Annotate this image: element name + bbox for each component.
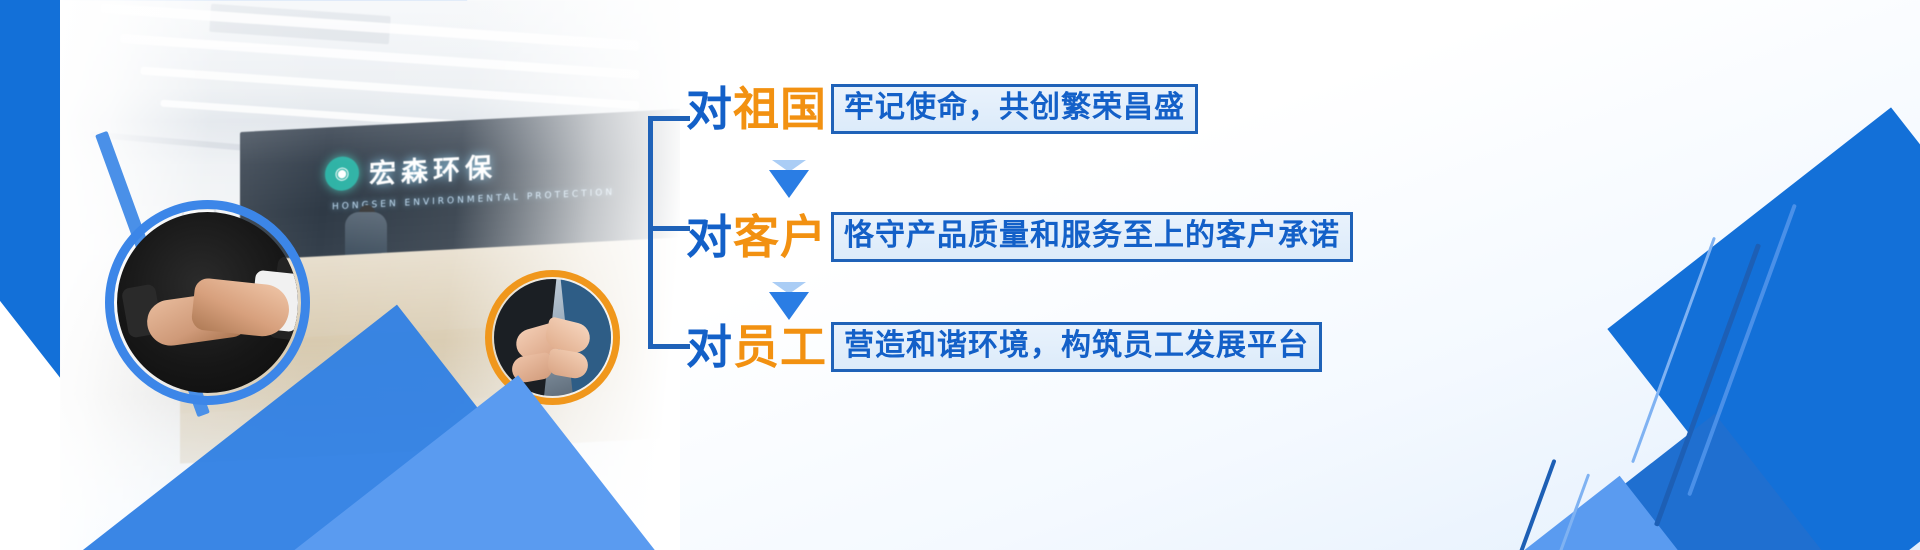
value-target: 客户: [733, 214, 827, 260]
down-arrow-icon: [766, 282, 812, 320]
value-prefix: 对: [686, 324, 733, 370]
value-statement-nation: 牢记使命，共创繁荣昌盛: [831, 84, 1198, 134]
value-row-nation: 对 祖国 牢记使命，共创繁荣昌盛: [686, 84, 1198, 134]
bracket-connector: [648, 86, 688, 374]
bracket-branch: [648, 226, 690, 231]
down-arrow-bottom: [769, 170, 809, 198]
bracket-vertical: [648, 116, 653, 348]
value-heading: 对 客户: [686, 214, 827, 260]
decor-hairline: [1687, 204, 1797, 497]
promo-banner: ◉ 宏森环保 HONGSEN ENVIRONMENTAL PROTECTION: [0, 0, 1920, 550]
value-prefix: 对: [686, 214, 733, 260]
value-heading: 对 祖国: [686, 86, 827, 132]
bracket-branch: [648, 116, 690, 121]
applause-photo-ring: [485, 270, 620, 405]
value-list: 对 祖国 牢记使命，共创繁荣昌盛 对 客户 恪守产品质量和服务至上的客户承诺 对…: [686, 0, 1686, 550]
value-prefix: 对: [686, 86, 733, 132]
value-row-employee: 对 员工 营造和谐环境，构筑员工发展平台: [686, 322, 1322, 372]
value-statement-employee: 营造和谐环境，构筑员工发展平台: [831, 322, 1322, 372]
bracket-branch: [648, 344, 690, 349]
down-arrow-icon: [766, 160, 812, 198]
value-statement-customer: 恪守产品质量和服务至上的客户承诺: [831, 212, 1353, 262]
value-heading: 对 员工: [686, 324, 827, 370]
value-target: 员工: [733, 324, 827, 370]
value-target: 祖国: [733, 86, 827, 132]
down-arrow-bottom: [769, 292, 809, 320]
value-row-customer: 对 客户 恪守产品质量和服务至上的客户承诺: [686, 212, 1353, 262]
handshake-photo-ring: [105, 200, 310, 405]
